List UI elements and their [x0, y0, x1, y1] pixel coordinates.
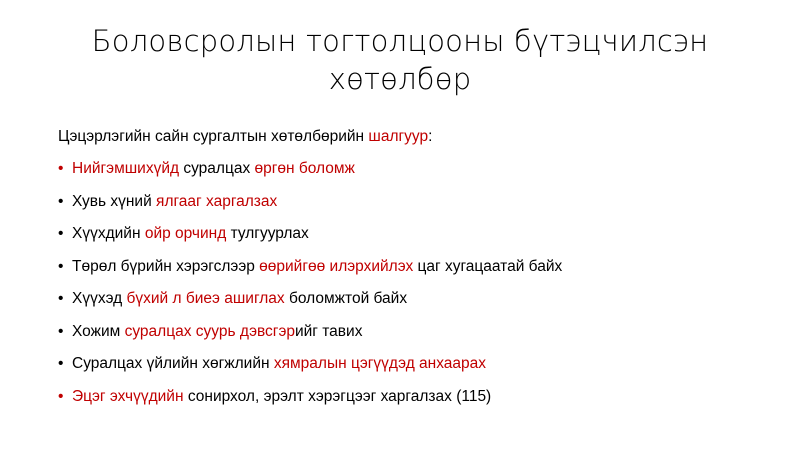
- bullet-marker-icon: •: [58, 223, 72, 245]
- bullet-2-run-0: Хүүхдийн: [72, 225, 145, 242]
- bullet-text: Эцэг эхчүүдийн сонирхол, эрэлт хэрэгцээг…: [72, 386, 491, 408]
- bullet-text: Төрөл бүрийн хэрэгслээр өөрийгөө илэрхий…: [72, 256, 562, 278]
- bullet-text: Суралцах үйлийн хөгжлийн хямралын цэгүүд…: [72, 353, 486, 375]
- bullet-3-run-1: өөрийгөө илэрхийлэх: [259, 258, 417, 275]
- bullet-6-run-0: Суралцах үйлийн хөгжлийн: [72, 355, 274, 372]
- bullet-marker-icon: •: [58, 191, 72, 213]
- bullet-4-run-0: Хүүхэд: [72, 290, 127, 307]
- bullet-7-run-1: сонирхол, эрэлт хэрэгцээг харгалзах (115…: [188, 388, 491, 405]
- bullet-0-run-1: суралцах: [183, 160, 254, 177]
- bullet-marker-icon: •: [58, 288, 72, 310]
- bullet-3-run-0: Төрөл бүрийн хэрэгслээр: [72, 258, 259, 275]
- slide-body: Цэцэрлэгийн сайн сургалтын хөтөлбөрийн ш…: [58, 126, 778, 418]
- lead-in-line: Цэцэрлэгийн сайн сургалтын хөтөлбөрийн ш…: [58, 126, 778, 148]
- bullet-text: Хүүхдийн ойр орчинд тулгуурлах: [72, 223, 309, 245]
- bullet-item: •Хожим суралцах суурь дэвсгэрийг тавих: [58, 321, 778, 343]
- slide-title: Боловсролын тогтолцооны бүтэцчилсэн хөтө…: [40, 22, 760, 98]
- bullet-list: •Нийгэмшихүйд суралцах өргөн боломж•Хувь…: [58, 158, 778, 408]
- bullet-item: •Хүүхдийн ойр орчинд тулгуурлах: [58, 223, 778, 245]
- bullet-text: Хувь хүний ялгааг харгалзах: [72, 191, 277, 213]
- bullet-item: •Хувь хүний ялгааг харгалзах: [58, 191, 778, 213]
- bullet-text: Нийгэмшихүйд суралцах өргөн боломж: [72, 158, 355, 180]
- bullet-marker-icon: •: [58, 386, 72, 408]
- bullet-item: •Нийгэмшихүйд суралцах өргөн боломж: [58, 158, 778, 180]
- bullet-marker-icon: •: [58, 321, 72, 343]
- bullet-text: Хүүхэд бүхий л биеэ ашиглах боломжтой ба…: [72, 288, 407, 310]
- bullet-6-run-1: хямралын цэгүүдэд анхаарах: [274, 355, 486, 372]
- bullet-marker-icon: •: [58, 353, 72, 375]
- bullet-4-run-2: боломжтой байх: [289, 290, 407, 307]
- bullet-item: •Хүүхэд бүхий л биеэ ашиглах боломжтой б…: [58, 288, 778, 310]
- bullet-1-run-1: ялгааг харгалзах: [156, 193, 277, 210]
- title-line-2: хөтөлбөр: [40, 60, 760, 98]
- title-line-1: Боловсролын тогтолцооны бүтэцчилсэн: [40, 22, 760, 60]
- bullet-7-run-0: Эцэг эхчүүдийн: [72, 388, 188, 405]
- slide: Боловсролын тогтолцооны бүтэцчилсэн хөтө…: [0, 0, 800, 450]
- bullet-text: Хожим суралцах суурь дэвсгэрийг тавих: [72, 321, 362, 343]
- bullet-marker-icon: •: [58, 158, 72, 180]
- bullet-2-run-2: тулгуурлах: [231, 225, 309, 242]
- bullet-5-run-2: ийг тавих: [295, 323, 362, 340]
- bullet-marker-icon: •: [58, 256, 72, 278]
- bullet-3-run-2: цаг хугацаатай байх: [418, 258, 563, 275]
- lead-in-run-2: :: [428, 128, 432, 145]
- bullet-item: •Суралцах үйлийн хөгжлийн хямралын цэгүү…: [58, 353, 778, 375]
- bullet-0-run-0: Нийгэмшихүйд: [72, 160, 183, 177]
- bullet-5-run-0: Хожим: [72, 323, 125, 340]
- bullet-item: •Эцэг эхчүүдийн сонирхол, эрэлт хэрэгцээ…: [58, 386, 778, 408]
- bullet-0-run-2: өргөн боломж: [255, 160, 355, 177]
- bullet-2-run-1: ойр орчинд: [145, 225, 231, 242]
- bullet-1-run-0: Хувь хүний: [72, 193, 156, 210]
- lead-in-run-1: шалгуур: [368, 128, 428, 145]
- lead-in-run-0: Цэцэрлэгийн сайн сургалтын хөтөлбөрийн: [58, 128, 368, 145]
- bullet-item: •Төрөл бүрийн хэрэгслээр өөрийгөө илэрхи…: [58, 256, 778, 278]
- bullet-4-run-1: бүхий л биеэ ашиглах: [127, 290, 289, 307]
- bullet-5-run-1: суралцах суурь дэвсгэр: [125, 323, 295, 340]
